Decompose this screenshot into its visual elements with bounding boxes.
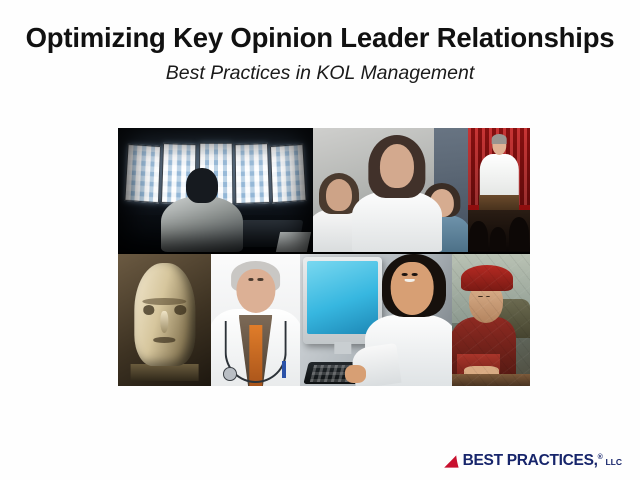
doctor-eye [248,278,253,280]
audience-head [509,217,529,251]
speaker-figure [484,135,514,199]
lab-coat [352,191,442,252]
red-swoosh-icon [442,455,459,468]
audience-head [490,227,506,251]
doctor-eye [258,278,263,280]
face [391,262,434,315]
collage-image-radiology-reading-room [118,128,313,252]
computer-user-figure [373,254,452,386]
collage-image-renaissance-portrait [452,254,530,386]
doctor-face [236,269,275,314]
collage-image-senior-doctor-stethoscope [211,254,300,386]
bust-head [134,263,195,366]
bust-nose [160,311,169,334]
collage-row-top [118,128,530,252]
photo-vignette [118,128,313,252]
hand [345,365,366,383]
presentation-slide: Optimizing Key Opinion Leader Relationsh… [0,0,640,480]
collage-row-bottom [118,254,530,386]
page-title: Optimizing Key Opinion Leader Relationsh… [0,22,640,54]
painting-craquelure [452,254,530,386]
audience-silhouettes [468,210,530,252]
pocket-pen [282,361,286,378]
bust-brow [142,298,186,305]
speaker-coat [480,154,519,200]
collage-image-classical-marble-bust [118,254,211,386]
face [380,144,414,188]
bust-eye [174,305,186,314]
logo-suffix: LLC [605,457,622,467]
eye [412,273,418,276]
photo-collage [118,128,530,386]
collage-image-medical-team-women [313,128,468,252]
page-subtitle: Best Practices in KOL Management [0,61,640,85]
collage-image-speaker-at-podium [468,128,530,252]
bust-eye [143,305,155,314]
monitor-stand [334,342,351,354]
eye [402,273,408,276]
company-logo[interactable]: BEST PRACTICES,® LLC [442,452,622,470]
smile [405,279,415,282]
logo-wordmark: BEST PRACTICES,® [463,452,603,470]
team-person-center [363,135,431,252]
stethoscope-bell [223,367,237,381]
logo-wordmark-text: BEST PRACTICES, [463,452,598,469]
registered-trademark-icon: ® [598,454,603,461]
collage-image-woman-at-computer [300,254,452,386]
face [326,179,352,211]
audience-head [469,221,488,251]
title-block: Optimizing Key Opinion Leader Relationsh… [0,22,640,85]
speaker-hair [492,134,507,144]
monitor-screen [307,261,378,334]
bust-mouth [153,337,175,342]
